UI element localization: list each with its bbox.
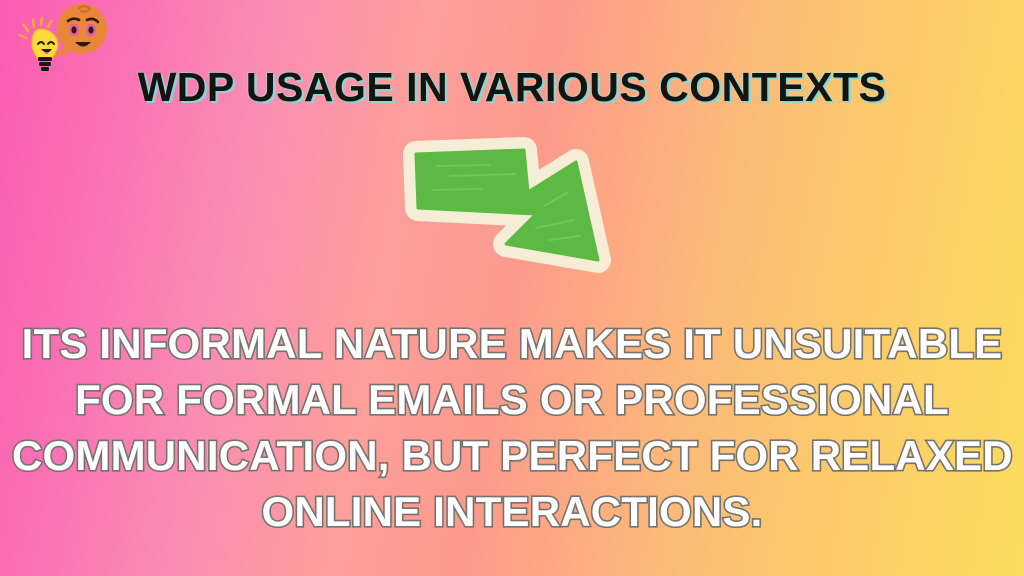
page-title: WDP USAGE IN VARIOUS CONTEXTS [0,64,1024,111]
face-left-pupil-icon [71,26,76,33]
body-line-1: ITS INFORMAL NATURE MAKES IT UNSUITABLE [12,316,1012,372]
face-right-pupil-icon [88,26,93,33]
slide-canvas: WDP USAGE IN VARIOUS CONTEXTS ITS INFORM… [0,0,1024,576]
arrow-svg [398,132,624,294]
curved-down-right-arrow [398,132,624,294]
body-line-4: ONLINE INTERACTIONS. [12,484,1012,540]
body-text: ITS INFORMAL NATURE MAKES IT UNSUITABLE … [12,316,1012,540]
body-line-3: COMMUNICATION, BUT PERFECT FOR RELAXED [12,428,1012,484]
bulb-base-ring-1 [38,57,52,61]
body-line-2: FOR FORMAL EMAILS OR PROFESSIONAL [12,372,1012,428]
